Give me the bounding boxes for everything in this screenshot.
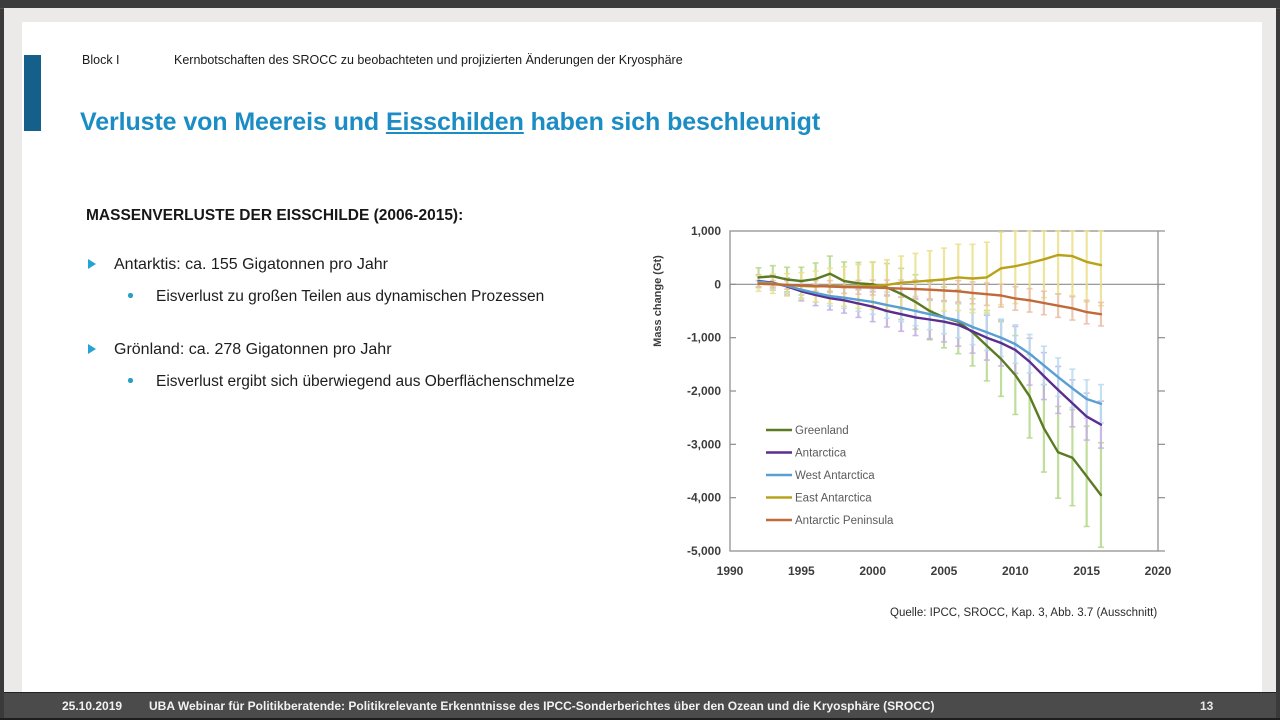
- bullet-label: Eisverlust zu großen Teilen aus dynamisc…: [156, 288, 544, 305]
- source-caption: Quelle: IPCC, SROCC, Kap. 3, Abb. 3.7 (A…: [890, 607, 1157, 619]
- bullet-list: Antarktis: ca. 155 Gigatonnen pro Jahr E…: [86, 254, 616, 408]
- chart-x-tick-label: 2005: [931, 564, 958, 578]
- footer-page-number: 13: [1200, 699, 1213, 713]
- list-item: Antarktis: ca. 155 Gigatonnen pro Jahr: [86, 254, 616, 276]
- slide-viewer: Block IKernbotschaften des SROCC zu beob…: [0, 0, 1280, 720]
- chart-y-tick-label: 1,000: [691, 224, 721, 238]
- chart-y-tick-label: -1,000: [687, 331, 721, 345]
- block-label: Block I: [82, 53, 174, 67]
- kicker-text: Kernbotschaften des SROCC zu beobachtete…: [174, 53, 683, 67]
- chart-x-tick-label: 1990: [717, 564, 744, 578]
- chart-legend-label: Antarctica: [795, 448, 847, 460]
- chart-error-bars-east-antarctica: [756, 231, 1104, 313]
- chart-x-tick-label: 2010: [1002, 564, 1029, 578]
- triangle-right-icon: [88, 344, 96, 354]
- chart-legend: GreenlandAntarcticaWest AntarcticaEast A…: [766, 425, 894, 527]
- bullet-label: Antarktis: ca. 155 Gigatonnen pro Jahr: [114, 256, 388, 273]
- slide-canvas: Block IKernbotschaften des SROCC zu beob…: [22, 22, 1262, 692]
- chart-y-tick-label: 0: [714, 277, 721, 291]
- footer-date: 25.10.2019: [62, 699, 122, 713]
- chart-svg: 1,0000-1,000-2,000-3,000-4,000-5,0001990…: [658, 219, 1176, 579]
- chart-y-tick-label: -4,000: [687, 491, 721, 505]
- accent-bar: [24, 55, 41, 131]
- dot-icon: [128, 293, 133, 298]
- title-part-2: haben sich beschleunigt: [524, 108, 820, 136]
- chart-y-tick-label: -5,000: [687, 544, 721, 558]
- chart-x-tick-label: 2015: [1073, 564, 1100, 578]
- dot-icon: [128, 378, 133, 383]
- chart-legend-label: West Antarctica: [795, 470, 875, 482]
- chart-legend-label: Antarctic Peninsula: [795, 515, 894, 527]
- chart-x-tick-label: 1995: [788, 564, 815, 578]
- title-part-1: Verluste von Meereis und: [80, 108, 386, 136]
- chart-y-tick-label: -2,000: [687, 384, 721, 398]
- bullet-label: Eisverlust ergibt sich überwiegend aus O…: [156, 373, 575, 390]
- bullet-label: Grönland: ca. 278 Gigatonnen pro Jahr: [114, 341, 392, 358]
- slide-shell: Block IKernbotschaften des SROCC zu beob…: [4, 8, 1276, 692]
- list-item: Grönland: ca. 278 Gigatonnen pro Jahr: [86, 339, 616, 361]
- chart-x-tick-label: 2020: [1145, 564, 1172, 578]
- header-kicker: Block IKernbotschaften des SROCC zu beob…: [82, 53, 683, 67]
- list-spacer: [86, 323, 616, 339]
- slide-footer: 25.10.2019 UBA Webinar für Politikberate…: [4, 692, 1276, 719]
- chart-legend-label: Greenland: [795, 425, 849, 437]
- chart-legend-label: East Antarctica: [795, 493, 872, 505]
- page-title: Verluste von Meereis und Eisschilden hab…: [80, 108, 820, 137]
- list-item: Eisverlust zu großen Teilen aus dynamisc…: [86, 284, 616, 309]
- chart-y-tick-label: -3,000: [687, 437, 721, 451]
- mass-change-chart: Mass change (Gt) 1,0000-1,000-2,000-3,00…: [658, 219, 1176, 579]
- title-underlined-word: Eisschilden: [386, 108, 524, 136]
- triangle-right-icon: [88, 259, 96, 269]
- list-item: Eisverlust ergibt sich überwiegend aus O…: [86, 369, 616, 394]
- footer-title: UBA Webinar für Politikberatende: Politi…: [149, 699, 935, 713]
- chart-x-tick-label: 2000: [859, 564, 886, 578]
- content-subheading: MASSENVERLUSTE DER EISSCHILDE (2006-2015…: [86, 207, 463, 225]
